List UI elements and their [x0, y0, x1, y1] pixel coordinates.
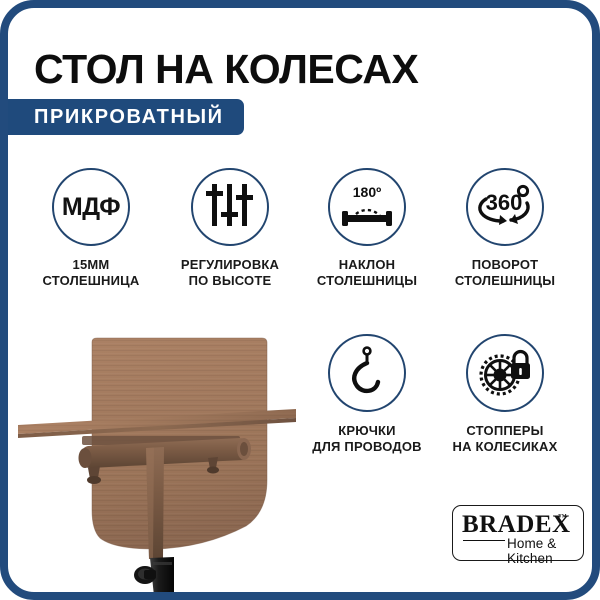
feature-cable-hooks-circle [328, 334, 406, 412]
subtitle-badge-label: ПРИКРОВАТНЫЙ [34, 106, 224, 129]
feature-material-caption: 15ММ СТОЛЕШНИЦА [16, 257, 166, 288]
feature-wheel-stoppers: СТОППЕРЫ НА КОЛЕСИКАХ [430, 334, 580, 454]
infographic-page: СТОЛ НА КОЛЕСАХ ПРИКРОВАТНЫЙ МДФ 15ММ СТ… [0, 0, 600, 600]
hook-icon [345, 346, 389, 401]
feature-rotation-caption: ПОВОРОТ СТОЛЕШНИЦЫ [430, 257, 580, 288]
subtitle-badge: ПРИКРОВАТНЫЙ [0, 99, 244, 135]
tilt-180-icon: 180º [338, 182, 396, 233]
feature-material: МДФ 15ММ СТОЛЕШНИЦА [16, 168, 166, 288]
svg-text:360: 360 [486, 190, 523, 215]
feature-tilt-caption: НАКЛОН СТОЛЕШНИЦЫ [292, 257, 442, 288]
feature-height-adjust: РЕГУЛИРОВКА ПО ВЫСОТЕ [155, 168, 305, 288]
mdf-text-icon: МДФ [62, 193, 120, 222]
svg-text:180º: 180º [353, 184, 381, 200]
rotate-360-icon: 360 [477, 181, 533, 234]
brand-logo-tagline: Home & Kitchen [507, 536, 583, 566]
page-title: СТОЛ НА КОЛЕСАХ [34, 47, 418, 91]
feature-cable-hooks: КРЮЧКИ ДЛЯ ПРОВОДОВ [292, 334, 442, 454]
feature-height-adjust-circle [191, 168, 269, 246]
feature-rotation: 360 ПОВОРОТ СТОЛЕШНИЦЫ [430, 168, 580, 288]
feature-height-adjust-caption: РЕГУЛИРОВКА ПО ВЫСОТЕ [155, 257, 305, 288]
brand-logo-wordmark: BRADEX [462, 511, 571, 539]
brand-logo: BRADEX ™ Home & Kitchen [452, 505, 584, 561]
product-photo [4, 330, 304, 596]
feature-wheel-stoppers-caption: СТОППЕРЫ НА КОЛЕСИКАХ [430, 423, 580, 454]
feature-wheel-stoppers-circle [466, 334, 544, 412]
slider-adjust-icon [205, 180, 255, 235]
trademark-icon: ™ [558, 512, 567, 522]
logo-rule [463, 540, 505, 541]
feature-material-circle: МДФ [52, 168, 130, 246]
feature-rotation-circle: 360 [466, 168, 544, 246]
feature-tilt: 180º НАКЛОН СТОЛЕШНИЦЫ [292, 168, 442, 288]
feature-tilt-circle: 180º [328, 168, 406, 246]
feature-cable-hooks-caption: КРЮЧКИ ДЛЯ ПРОВОДОВ [292, 423, 442, 454]
wheel-lock-icon [478, 346, 532, 401]
